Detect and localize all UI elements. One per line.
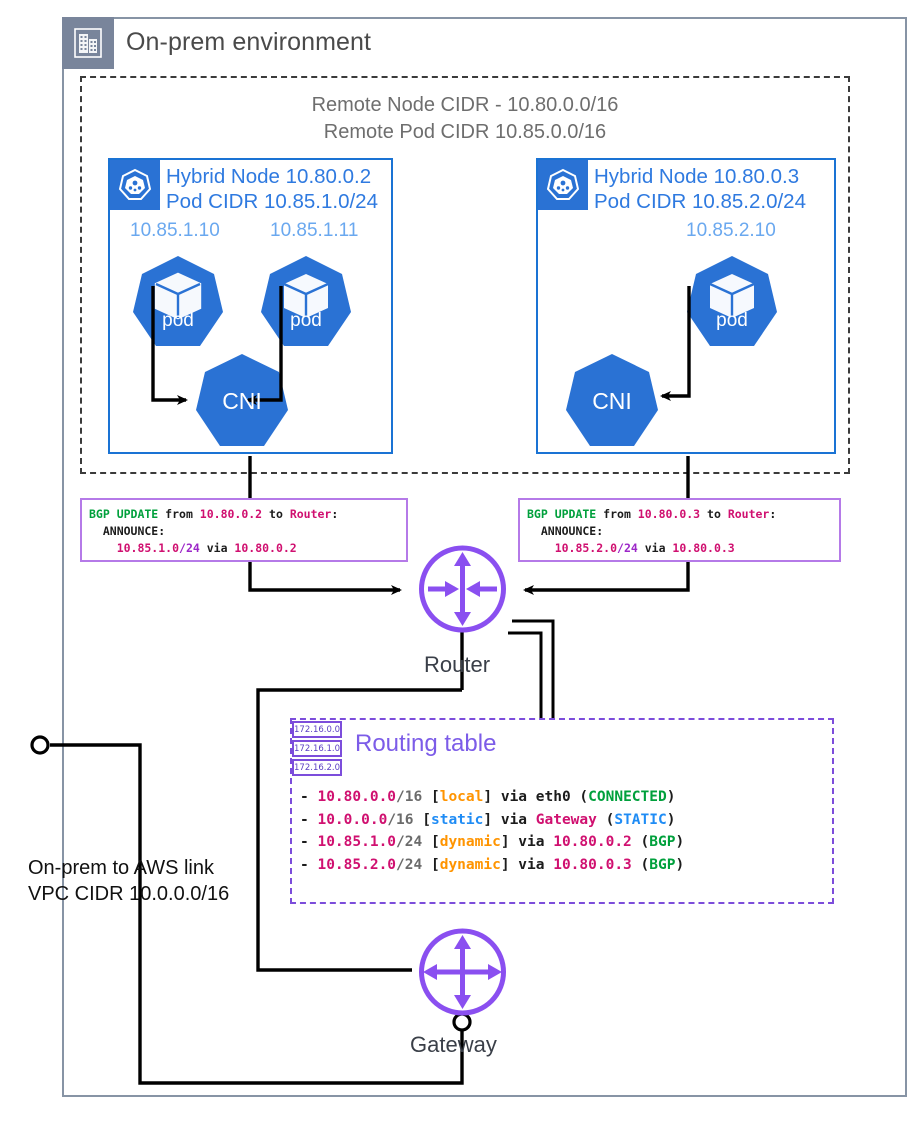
route-protocol: BGP — [649, 834, 675, 850]
page-title: On-prem environment — [126, 28, 371, 57]
bgp-2-from: from — [596, 507, 638, 521]
onprem-link-line2: VPC CIDR 10.0.0.0/16 — [28, 881, 229, 907]
bgp-1-nh: 10.80.0.2 — [234, 541, 296, 555]
pod-2-label: pod — [290, 310, 322, 332]
bgp-2-keyword: BGP UPDATE — [527, 507, 596, 521]
route-mask: /24 — [396, 857, 422, 873]
pod-2[interactable]: pod — [258, 254, 354, 350]
bgp-2-src: 10.80.0.3 — [638, 507, 700, 521]
routing-table-rows: - 10.80.0.0/16 [local] via eth0 (CONNECT… — [300, 786, 684, 876]
diagram-canvas: On-prem environment Remote Node CIDR - 1… — [0, 0, 922, 1124]
node-2-name: Hybrid Node 10.80.0.3 — [594, 164, 806, 189]
route-via: ] via — [501, 857, 553, 873]
gateway-label: Gateway — [410, 1032, 497, 1058]
bgp-1-via: via — [200, 541, 235, 555]
bgp-2-via: via — [638, 541, 673, 555]
route-chip-2: 172.16.1.0 — [292, 740, 342, 757]
bgp-2-nh: 10.80.0.3 — [672, 541, 734, 555]
cni-2[interactable]: CNI — [562, 352, 662, 450]
pod-1-label: pod — [162, 310, 194, 332]
route-via: ] via — [501, 834, 553, 850]
route-nexthop: 10.80.0.2 — [553, 834, 632, 850]
building-icon — [62, 17, 114, 69]
route-protocol: BGP — [649, 857, 675, 873]
route-nexthop: Gateway — [536, 812, 597, 828]
bgp-1-to: to — [262, 507, 290, 521]
route-network: 10.0.0.0 — [317, 812, 387, 828]
kubernetes-icon — [110, 160, 160, 210]
route-via: ] via — [483, 812, 535, 828]
route-sep: [ — [422, 857, 439, 873]
cni-1-label: CNI — [222, 388, 262, 415]
remote-pod-cidr: Remote Pod CIDR 10.85.0.0/16 — [80, 119, 850, 146]
gateway-icon[interactable] — [405, 928, 520, 1016]
bgp-update-2: BGP UPDATE from 10.80.0.3 to Router: ANN… — [518, 498, 841, 562]
routing-table-row: - 10.0.0.0/16 [static] via Gateway (STAT… — [300, 809, 684, 832]
route-sep: ) — [667, 812, 676, 828]
node-1-heading: Hybrid Node 10.80.0.2 Pod CIDR 10.85.1.0… — [166, 164, 378, 214]
remote-cidr-caption: Remote Node CIDR - 10.80.0.0/16 Remote P… — [80, 92, 850, 146]
bgp-2-net: 10.85.2.0 — [527, 541, 617, 555]
node-2-heading: Hybrid Node 10.80.0.3 Pod CIDR 10.85.2.0… — [594, 164, 806, 214]
route-nexthop: eth0 — [536, 789, 571, 805]
route-type: local — [440, 789, 484, 805]
route-via: ] via — [483, 789, 535, 805]
pod-ip-3: 10.85.2.10 — [686, 220, 776, 242]
onprem-link-line1: On-prem to AWS link — [28, 855, 229, 881]
route-protocol: STATIC — [614, 812, 666, 828]
route-sep: ( — [632, 834, 649, 850]
pod-1[interactable]: pod — [130, 254, 226, 350]
route-type: static — [431, 812, 483, 828]
route-dash: - — [300, 857, 317, 873]
route-dash: - — [300, 834, 317, 850]
bgp-2-mask: /24 — [617, 541, 638, 555]
route-network: 10.85.2.0 — [317, 857, 396, 873]
kubernetes-icon — [538, 160, 588, 210]
route-sep: [ — [414, 812, 431, 828]
bgp-1-keyword: BGP UPDATE — [89, 507, 158, 521]
node-1-podcidr: Pod CIDR 10.85.1.0/24 — [166, 189, 378, 214]
bgp-1-from: from — [158, 507, 200, 521]
route-sep: [ — [422, 789, 439, 805]
route-type: dynamic — [440, 834, 501, 850]
node-1-name: Hybrid Node 10.80.0.2 — [166, 164, 378, 189]
bgp-1-mask: /24 — [179, 541, 200, 555]
routing-table-row: - 10.85.1.0/24 [dynamic] via 10.80.0.2 (… — [300, 831, 684, 854]
route-sep: [ — [422, 834, 439, 850]
bgp-1-src: 10.80.0.2 — [200, 507, 262, 521]
route-chip-1: 172.16.0.0 — [292, 721, 342, 738]
route-protocol: CONNECTED — [588, 789, 667, 805]
route-sep: ( — [571, 789, 588, 805]
route-mask: /16 — [396, 789, 422, 805]
hybrid-node-1[interactable]: Hybrid Node 10.80.0.2 Pod CIDR 10.85.1.0… — [108, 158, 393, 454]
hybrid-node-2[interactable]: Hybrid Node 10.80.0.3 Pod CIDR 10.85.2.0… — [536, 158, 836, 454]
bgp-1-net: 10.85.1.0 — [89, 541, 179, 555]
routing-table-title: Routing table — [355, 730, 496, 758]
router-label: Router — [424, 652, 490, 678]
route-mask: /16 — [387, 812, 413, 828]
bgp-1-colon: : — [331, 507, 338, 521]
bgp-2-dst: Router — [728, 507, 770, 521]
node-2-podcidr: Pod CIDR 10.85.2.0/24 — [594, 189, 806, 214]
router-icon[interactable] — [405, 545, 520, 633]
bgp-update-1: BGP UPDATE from 10.80.0.2 to Router: ANN… — [80, 498, 408, 562]
route-dash: - — [300, 789, 317, 805]
route-network: 10.80.0.0 — [317, 789, 396, 805]
route-sep: ) — [667, 789, 676, 805]
route-dash: - — [300, 812, 317, 828]
route-sep: ) — [675, 857, 684, 873]
pod-ip-2: 10.85.1.11 — [270, 220, 358, 242]
bgp-1-dst: Router — [290, 507, 332, 521]
bgp-2-colon: : — [769, 507, 776, 521]
route-sep: ( — [632, 857, 649, 873]
onprem-link-caption: On-prem to AWS link VPC CIDR 10.0.0.0/16 — [28, 855, 229, 907]
route-stack-icon: 172.16.0.0 172.16.1.0 172.16.2.0 — [292, 721, 342, 778]
route-sep: ( — [597, 812, 614, 828]
pod-3-label: pod — [716, 310, 748, 332]
link-endpoint-icon — [32, 737, 48, 753]
routing-table-row: - 10.85.2.0/24 [dynamic] via 10.80.0.3 (… — [300, 854, 684, 877]
pod-ip-1: 10.85.1.10 — [130, 220, 220, 242]
bgp-2-to: to — [700, 507, 728, 521]
remote-node-cidr: Remote Node CIDR - 10.80.0.0/16 — [80, 92, 850, 119]
route-type: dynamic — [440, 857, 501, 873]
route-chip-3: 172.16.2.0 — [292, 759, 342, 776]
route-mask: /24 — [396, 834, 422, 850]
route-sep: ) — [675, 834, 684, 850]
bgp-2-announce: ANNOUNCE: — [527, 524, 603, 538]
route-nexthop: 10.80.0.3 — [553, 857, 632, 873]
route-network: 10.85.1.0 — [317, 834, 396, 850]
cni-1[interactable]: CNI — [192, 352, 292, 450]
routing-table-row: - 10.80.0.0/16 [local] via eth0 (CONNECT… — [300, 786, 684, 809]
pod-3[interactable]: pod — [684, 254, 780, 350]
bgp-1-announce: ANNOUNCE: — [89, 524, 165, 538]
cni-2-label: CNI — [592, 388, 632, 415]
